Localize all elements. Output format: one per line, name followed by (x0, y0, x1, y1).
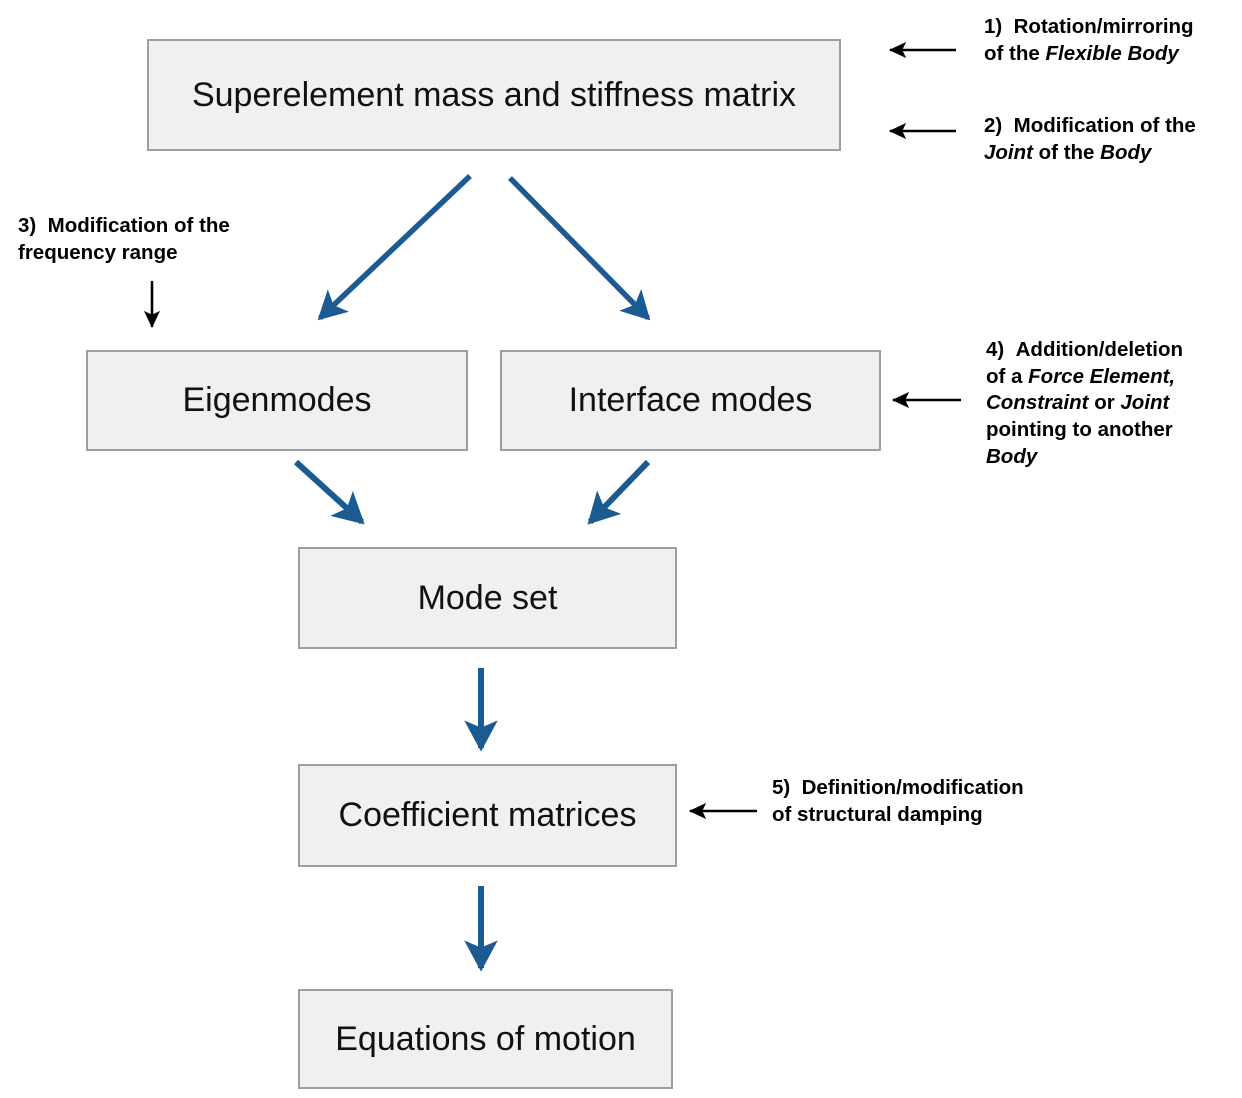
node-label-superelement: Superelement mass and stiffness matrix (192, 76, 796, 115)
annotation-5: 5) Definition/modificationof structural … (772, 775, 1092, 828)
annotation-number: 3) (18, 214, 48, 237)
flow-arrow-superelement-to-interface-modes (510, 178, 648, 318)
annotation-text: Rotation/mirroring (1014, 15, 1194, 38)
annotation-text: Definition/modification (802, 776, 1024, 799)
node-label-coefficient-matrices: Coefficient matrices (339, 796, 637, 835)
node-label-interface-modes: Interface modes (569, 381, 813, 420)
annotation-line: of the Flexible Body (984, 41, 1240, 68)
annotation-line: pointing to another (986, 417, 1236, 444)
annotation-text: of structural damping (772, 803, 983, 826)
annotation-text: of the (1033, 141, 1100, 164)
flow-arrow-superelement-to-eigenmodes (320, 176, 470, 318)
annotation-number: 4) (986, 338, 1016, 361)
annotation-text: of a (986, 365, 1028, 388)
node-interface-modes[interactable]: Interface modes (500, 350, 881, 451)
annotation-line: 5) Definition/modification (772, 775, 1092, 802)
annotation-line: frequency range (18, 240, 288, 267)
annotation-4: 4) Addition/deletionof a Force Element,C… (986, 337, 1236, 470)
annotation-line: of structural damping (772, 802, 1092, 829)
annotation-line: Joint of the Body (984, 140, 1240, 167)
annotation-term: Body (1100, 141, 1151, 164)
annotation-line: 4) Addition/deletion (986, 337, 1236, 364)
node-label-mode-set: Mode set (418, 579, 558, 618)
annotation-term: Body (986, 445, 1037, 468)
annotation-line: 1) Rotation/mirroring (984, 14, 1240, 41)
annotation-line: Constraint or Joint (986, 390, 1236, 417)
annotation-number: 2) (984, 114, 1014, 137)
node-label-eigenmodes: Eigenmodes (182, 381, 371, 420)
annotation-text: or (1089, 391, 1121, 414)
annotation-term: Flexible Body (1046, 42, 1179, 65)
annotation-1: 1) Rotation/mirroringof the Flexible Bod… (984, 14, 1240, 67)
node-equations-of-motion[interactable]: Equations of motion (298, 989, 673, 1089)
annotation-term: Force Element, (1028, 365, 1175, 388)
annotation-text: Modification of the (1014, 114, 1196, 137)
annotation-2: 2) Modification of theJoint of the Body (984, 113, 1240, 166)
annotation-term: Joint (984, 141, 1033, 164)
node-superelement[interactable]: Superelement mass and stiffness matrix (147, 39, 841, 151)
flow-arrow-interface-modes-to-mode-set (590, 462, 648, 522)
annotation-term: Joint (1120, 391, 1169, 414)
node-coefficient-matrices[interactable]: Coefficient matrices (298, 764, 677, 867)
annotation-line: 3) Modification of the (18, 213, 288, 240)
node-label-equations-of-motion: Equations of motion (335, 1020, 636, 1059)
annotation-number: 5) (772, 776, 802, 799)
annotation-text: pointing to another (986, 418, 1173, 441)
flow-arrow-eigenmodes-to-mode-set (296, 462, 362, 522)
annotation-text: frequency range (18, 241, 178, 264)
annotation-line: Body (986, 444, 1236, 471)
annotation-3: 3) Modification of thefrequency range (18, 213, 288, 266)
node-eigenmodes[interactable]: Eigenmodes (86, 350, 468, 451)
node-mode-set[interactable]: Mode set (298, 547, 677, 649)
annotation-text: Modification of the (48, 214, 230, 237)
annotation-number: 1) (984, 15, 1014, 38)
annotation-line: 2) Modification of the (984, 113, 1240, 140)
annotation-term: Constraint (986, 391, 1089, 414)
annotation-line: of a Force Element, (986, 364, 1236, 391)
diagram-canvas: Superelement mass and stiffness matrix E… (0, 0, 1242, 1098)
annotation-text: Addition/deletion (1016, 338, 1183, 361)
annotation-text: of the (984, 42, 1046, 65)
